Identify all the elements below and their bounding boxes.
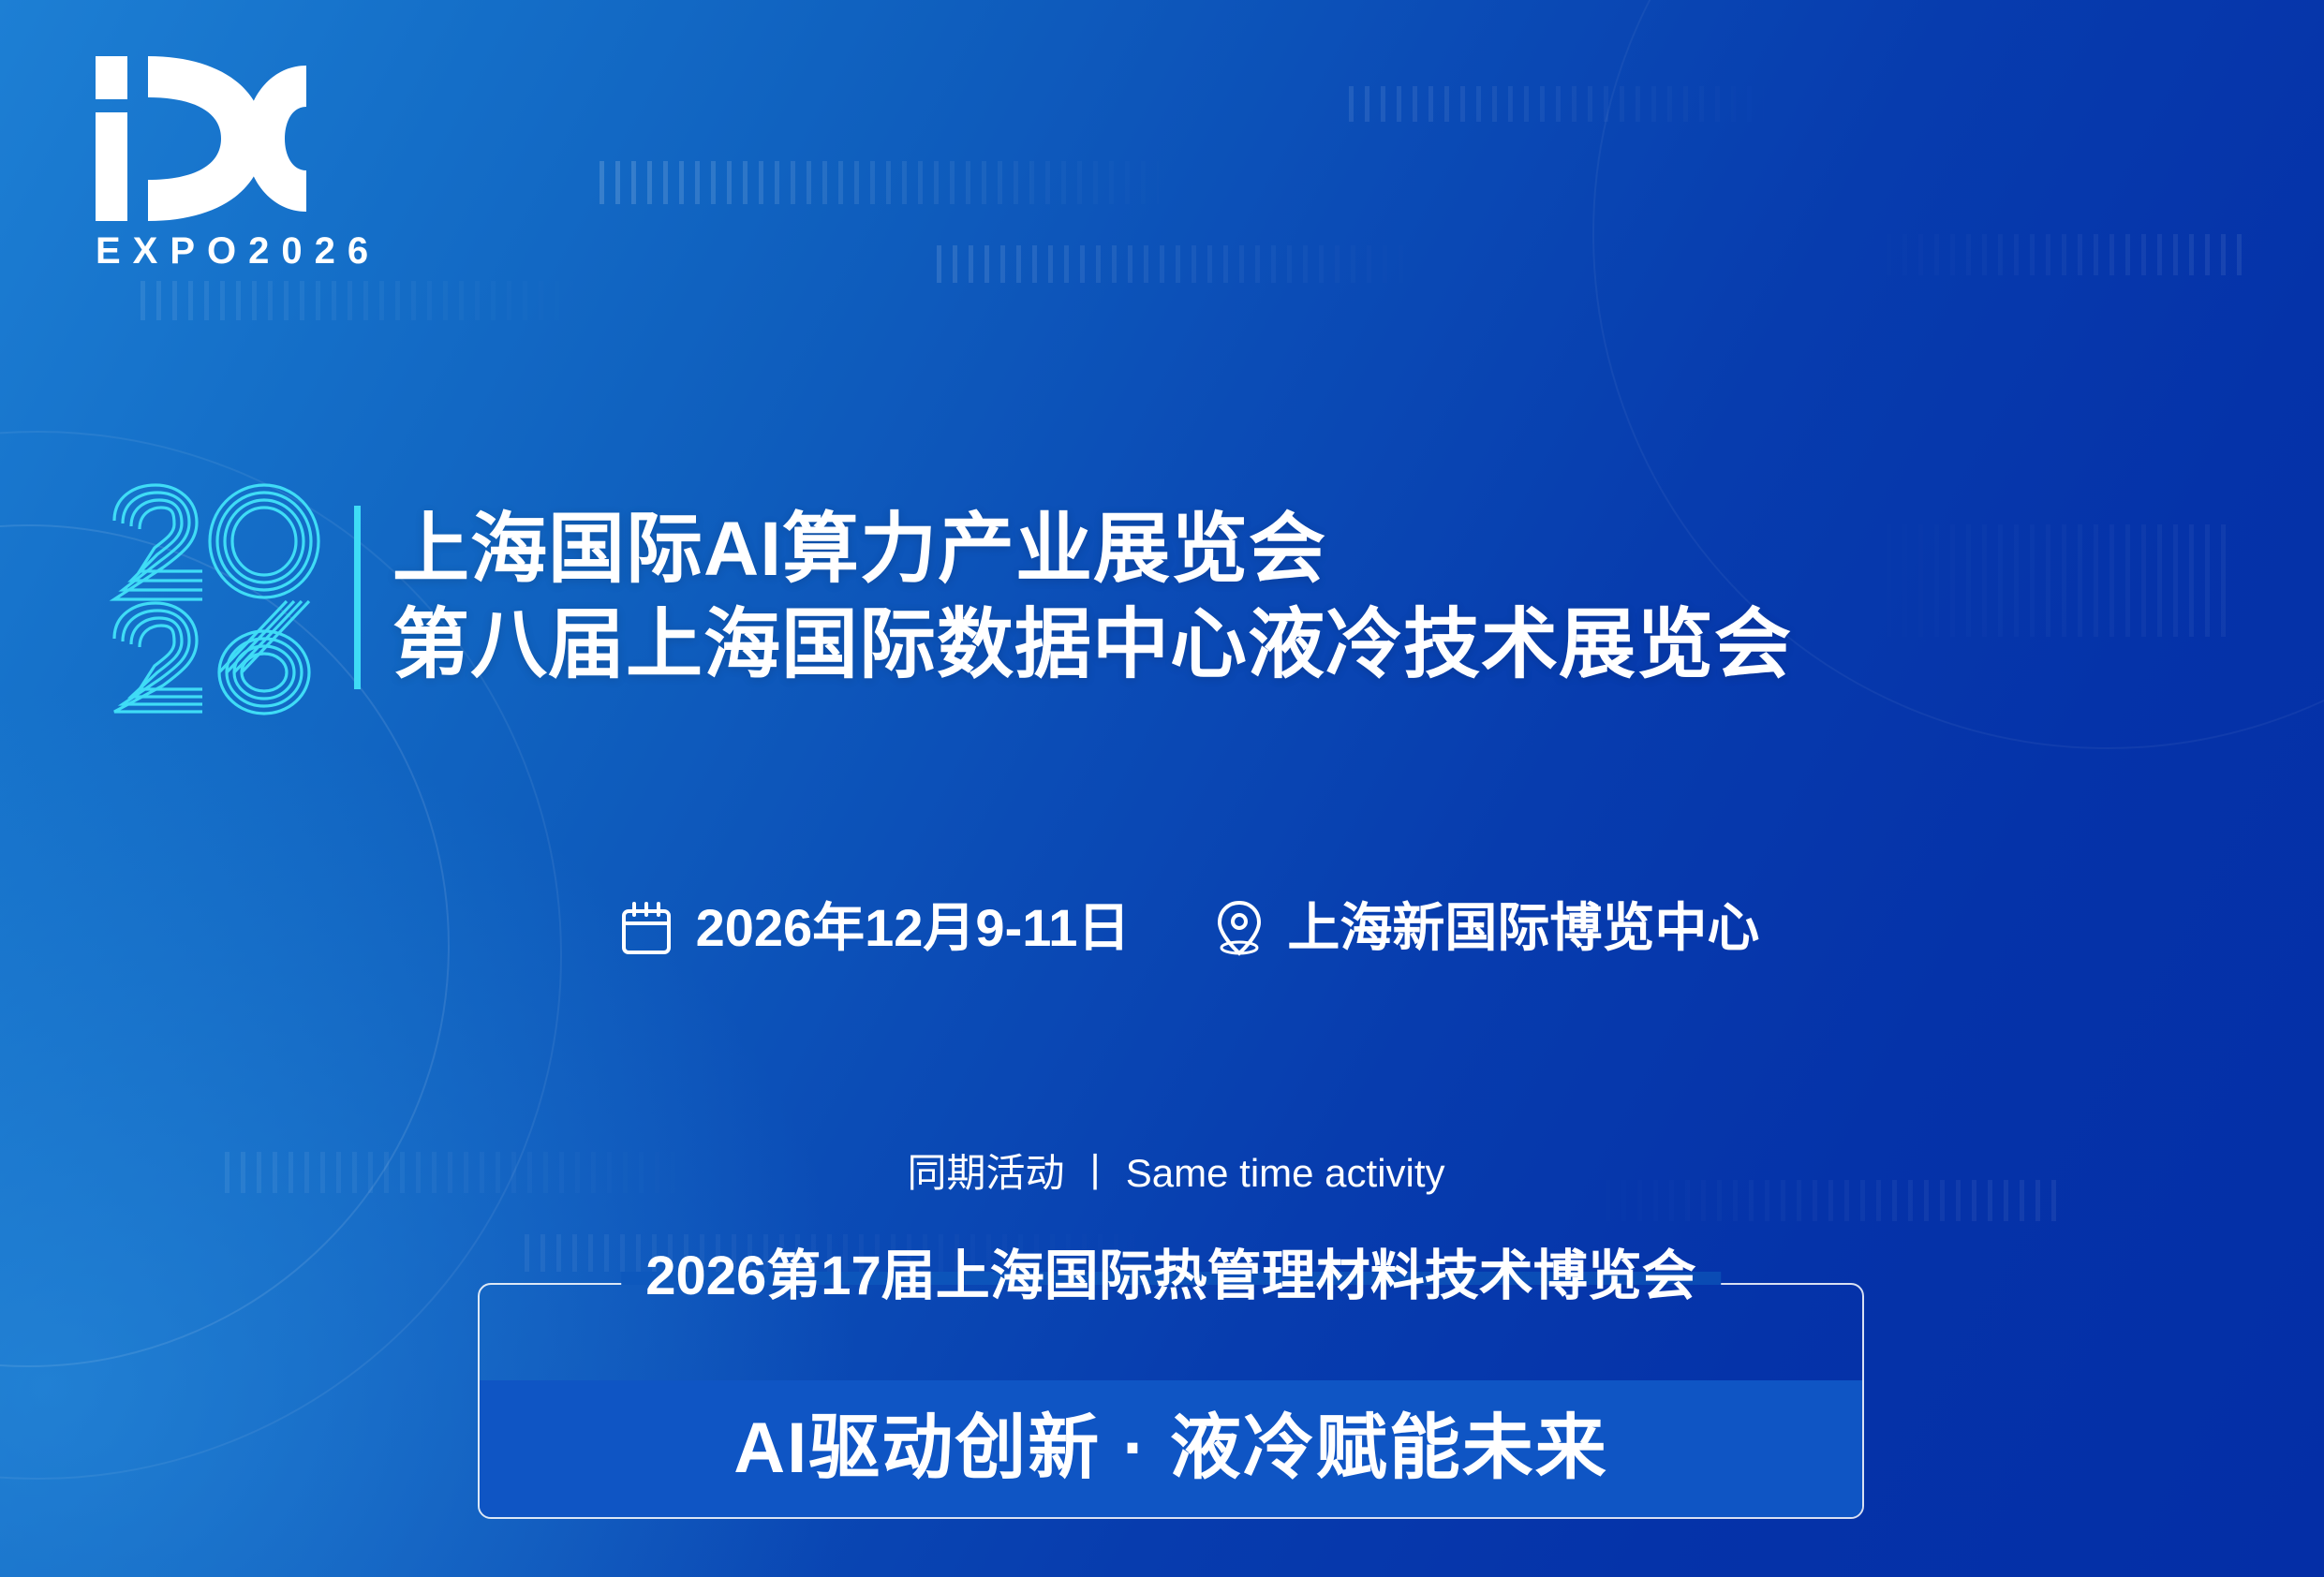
calendar-icon bbox=[621, 901, 672, 955]
headline-divider bbox=[354, 506, 361, 689]
event-venue: 上海新国际博览中心 bbox=[1216, 899, 1759, 957]
coevent-box: 2026第17届上海国际热管理材料技术博览会 AI驱动创新 · 液冷赋能未来 bbox=[478, 1283, 1864, 1519]
year-2026-graphic bbox=[101, 479, 322, 715]
bar-pattern bbox=[1855, 524, 2229, 637]
bar-pattern bbox=[937, 245, 1424, 283]
bar-pattern bbox=[141, 281, 590, 320]
event-meta: 2026年12月9-11日 上海新国际博览中心 bbox=[0, 899, 2324, 957]
headline-text: 上海国际AI算力产业展览会 第八届上海国际数据中心液冷技术展览会 bbox=[392, 507, 1792, 688]
headline-line-1: 上海国际AI算力产业展览会 bbox=[392, 507, 1792, 593]
coevent-slogan: AI驱动创新 · 液冷赋能未来 bbox=[733, 1413, 1608, 1484]
brand-logo[interactable]: EXPO2026 bbox=[90, 54, 380, 270]
bar-pattern bbox=[1349, 86, 1780, 122]
coevent-slogan-bar: AI驱动创新 · 液冷赋能未来 bbox=[480, 1380, 1862, 1517]
headline-line-2: 第八届上海国际数据中心液冷技术展览会 bbox=[392, 602, 1792, 688]
same-time-activity-label: 同期活动 丨 Same time activity bbox=[0, 1154, 2324, 1193]
coevent-title-wrap: 2026第17届上海国际热管理材料技术博览会 bbox=[621, 1249, 1721, 1304]
coevent-title: 2026第17届上海国际热管理材料技术博览会 bbox=[645, 1245, 1696, 1306]
logo-wordmark: EXPO2026 bbox=[90, 232, 380, 270]
headline-section: 上海国际AI算力产业展览会 第八届上海国际数据中心液冷技术展览会 bbox=[101, 479, 1792, 715]
location-pin-icon bbox=[1216, 899, 1263, 957]
event-date: 2026年12月9-11日 bbox=[621, 901, 1131, 955]
event-venue-text: 上海新国际博览中心 bbox=[1287, 902, 1759, 954]
event-banner: EXPO2026 bbox=[0, 0, 2324, 1577]
idc-logo-mark bbox=[90, 54, 307, 223]
bar-pattern bbox=[1855, 234, 2248, 275]
bar-pattern bbox=[600, 161, 1180, 204]
event-date-text: 2026年12月9-11日 bbox=[696, 902, 1131, 954]
